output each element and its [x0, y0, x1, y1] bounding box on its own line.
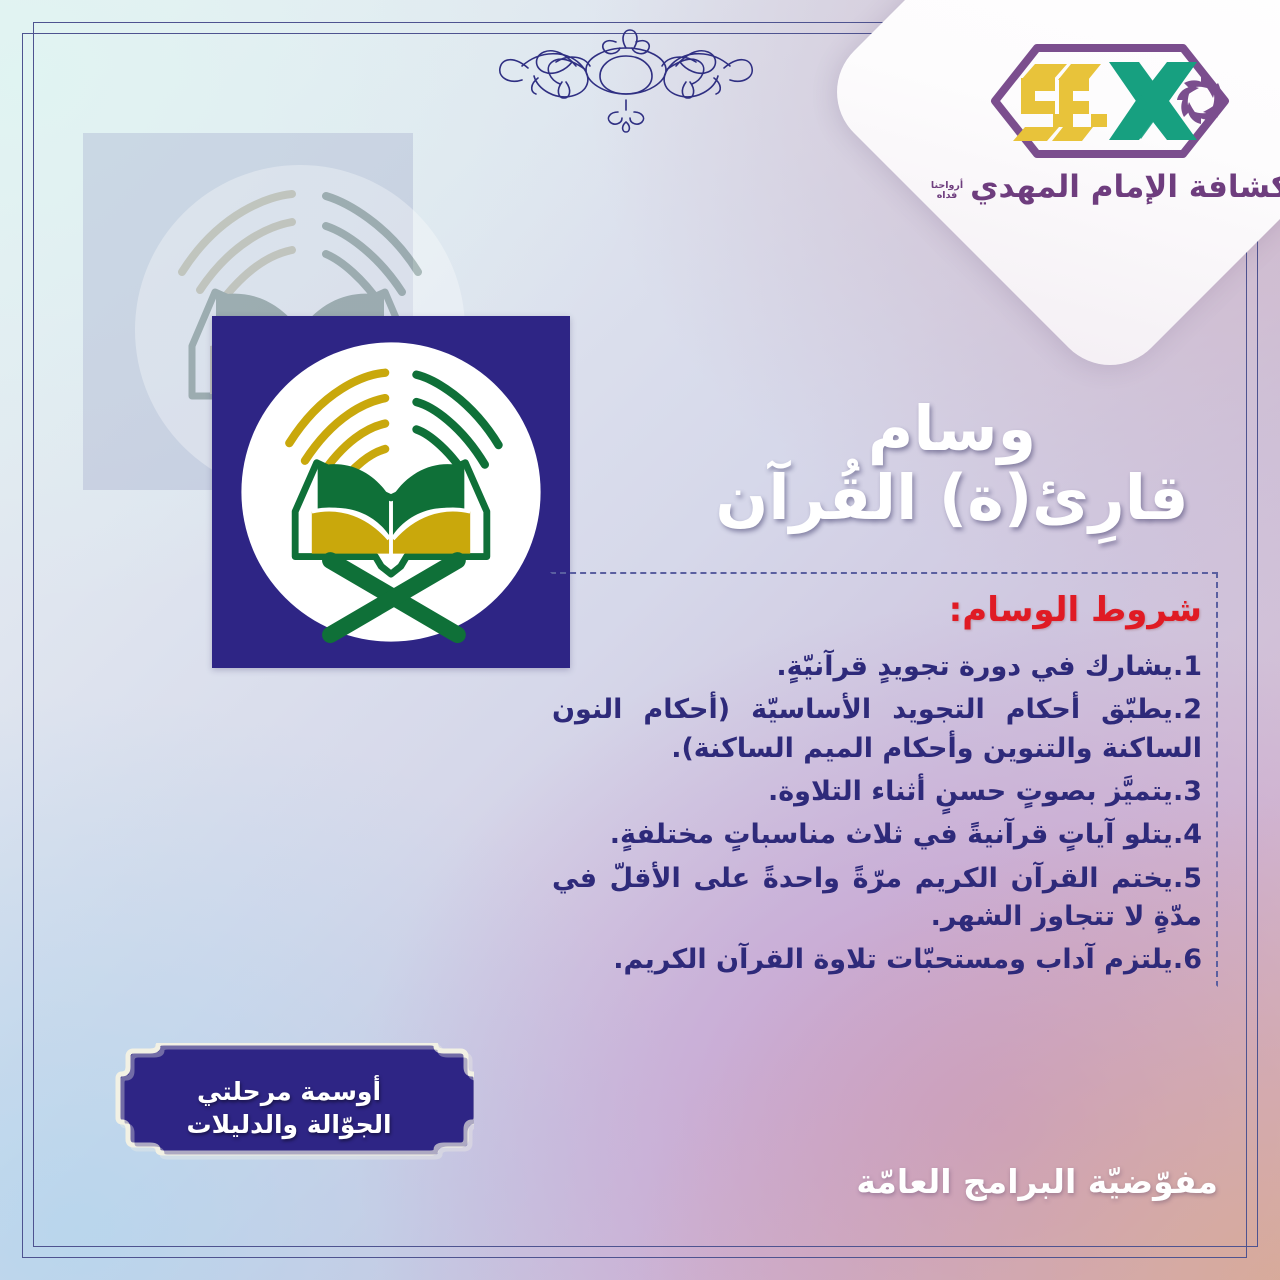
plaque-text: أوسمة مرحلتي الجوّالة والدليلات: [104, 1043, 474, 1173]
org-name-superscript: أرواحنا فداه: [931, 181, 963, 200]
org-name: كشافة الإمام المهدي أرواحنا فداه: [917, 170, 1280, 204]
scout-logo-block: كشافة الإمام المهدي أرواحنا فداه: [917, 42, 1280, 292]
poster-canvas: كشافة الإمام المهدي أرواحنا فداه وسام قا…: [0, 0, 1280, 1280]
plaque-line1: أوسمة مرحلتي: [197, 1075, 381, 1109]
page-title-line1: وسام: [672, 396, 1232, 462]
list-item: 5.يختم القرآن الكريم مرّةً واحدةً على ال…: [552, 860, 1202, 937]
scout-hexagon-logo-icon: [985, 42, 1235, 160]
list-item: 4.يتلو آياتٍ قرآنيةً في ثلاث مناسباتٍ مخ…: [552, 816, 1202, 854]
page-title-line2: قارِئ(ة) القُرآن: [672, 464, 1232, 532]
list-item: 3.يتميَّز بصوتٍ حسنٍ أثناء التلاوة.: [552, 773, 1202, 811]
plaque-line2: الجوّالة والدليلات: [186, 1108, 391, 1142]
conditions-list: 1.يشارك في دورة تجويدٍ قرآنيّةٍ. 2.يطبّق…: [552, 648, 1202, 980]
conditions-panel: شروط الوسام: 1.يشارك في دورة تجويدٍ قرآن…: [550, 572, 1218, 987]
footer-department: مفوّضيّة البرامج العامّة: [578, 1162, 1218, 1201]
stage-badge-plaque: أوسمة مرحلتي الجوّالة والدليلات: [104, 1043, 474, 1173]
list-item: 2.يطبّق أحكام التجويد الأساسيّة (أحكام ا…: [552, 691, 1202, 768]
quran-reader-emblem: [212, 316, 570, 668]
org-name-text: كشافة الإمام المهدي: [970, 170, 1280, 204]
list-item: 6.يلتزم آداب ومستحبّات تلاوة القرآن الكر…: [552, 941, 1202, 979]
scroll-flourish-ornament-icon: [466, 26, 786, 136]
page-title: وسام قارِئ(ة) القُرآن: [672, 396, 1232, 532]
list-item: 1.يشارك في دورة تجويدٍ قرآنيّةٍ.: [552, 648, 1202, 686]
conditions-heading: شروط الوسام:: [552, 590, 1202, 630]
